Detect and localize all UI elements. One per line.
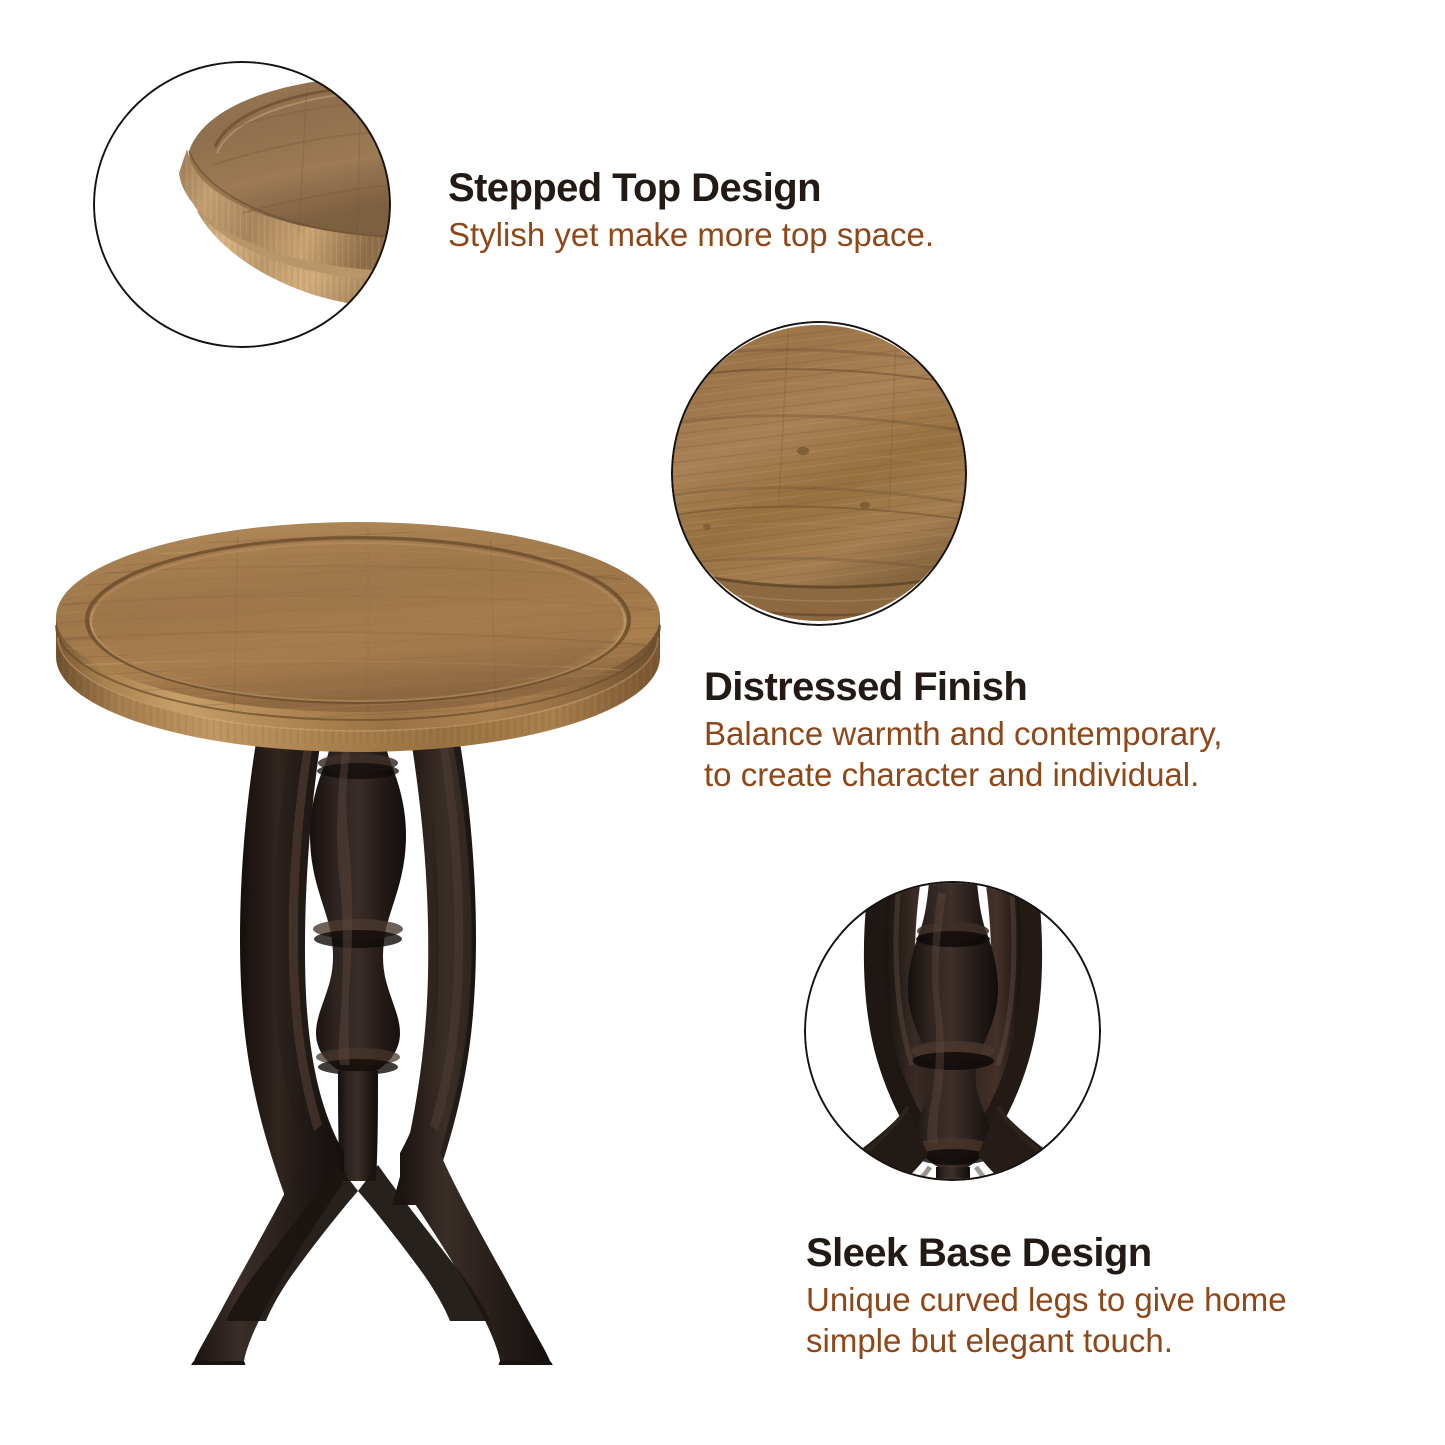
callout-sleek-base [804, 881, 1101, 1181]
callout-stepped-top [93, 61, 391, 348]
feature-text-stepped-top: Stepped Top Design Stylish yet make more… [448, 167, 934, 256]
feature-title-stepped-top: Stepped Top Design [448, 167, 934, 209]
callout-distressed-finish [671, 321, 967, 626]
feature-description-sleek-base: Unique curved legs to give home simple b… [806, 1280, 1287, 1361]
infographic-canvas: Stepped Top Design Stylish yet make more… [0, 0, 1445, 1445]
feature-title-distressed-finish: Distressed Finish [704, 666, 1222, 708]
callout-stepped-top-image [93, 61, 391, 348]
feature-description-stepped-top: Stylish yet make more top space. [448, 215, 934, 256]
feature-text-sleek-base: Sleek Base Design Unique curved legs to … [806, 1232, 1287, 1362]
callout-distressed-finish-image [671, 321, 967, 626]
table-top [38, 505, 678, 752]
feature-description-distressed-finish: Balance warmth and contemporary, to crea… [704, 714, 1222, 795]
feature-title-sleek-base: Sleek Base Design [806, 1232, 1287, 1274]
feature-description-line: Balance warmth and contemporary, [704, 714, 1222, 755]
feature-description-line: simple but elegant touch. [806, 1321, 1287, 1362]
table-base [190, 717, 555, 1365]
product-image-table [38, 505, 678, 1365]
feature-description-line: Stylish yet make more top space. [448, 215, 934, 256]
callout-sleek-base-image [804, 881, 1101, 1181]
feature-description-line: to create character and individual. [704, 755, 1222, 796]
feature-text-distressed-finish: Distressed Finish Balance warmth and con… [704, 666, 1222, 796]
feature-description-line: Unique curved legs to give home [806, 1280, 1287, 1321]
